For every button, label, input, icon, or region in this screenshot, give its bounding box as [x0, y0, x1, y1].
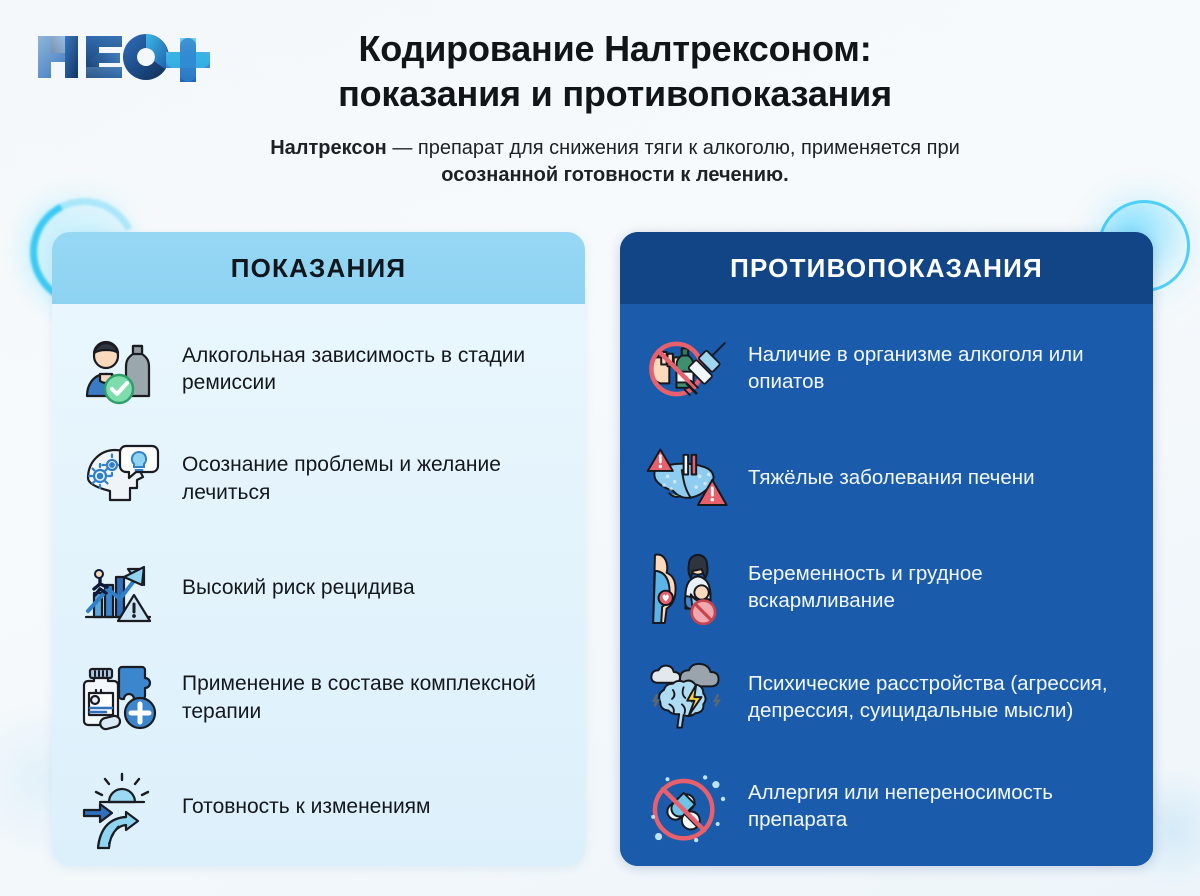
- subtitle-lead-bold: Налтрексон: [270, 137, 387, 159]
- brain-storm-cloud-icon: [646, 655, 732, 741]
- card-contraindications-title: ПРОТИВОПОКАЗАНИЯ: [730, 253, 1043, 284]
- card-contraindications: ПРОТИВОПОКАЗАНИЯ: [620, 232, 1153, 866]
- subtitle-middle: — препарат для снижения тяги к алкоголю,…: [387, 137, 960, 159]
- list-item-label: Применение в составе комплексной терапии: [182, 670, 559, 725]
- list-item[interactable]: Осознание проблемы и желание лечиться: [78, 436, 559, 522]
- list-item-label: Аллергия или непереносимость препарата: [748, 780, 1135, 833]
- head-gears-lightbulb-icon: [78, 436, 164, 522]
- sunrise-road-arrow-icon: [78, 764, 164, 850]
- list-item[interactable]: Тяжёлые заболевания печени: [646, 436, 1135, 522]
- subtitle-tail-bold: осознанной готовности к лечению.: [441, 164, 788, 186]
- list-item-label: Осознание проблемы и желание лечиться: [182, 451, 559, 506]
- list-item-label: Высокий риск рецидива: [182, 574, 415, 601]
- no-alcohol-hand-syringe-icon: [646, 326, 732, 412]
- list-item[interactable]: Алкогольная зависимость в стадии ремисси…: [78, 326, 559, 412]
- card-contraindications-body: Наличие в организме алкоголя или опиатов: [620, 304, 1153, 866]
- list-item-label: Психические расстройства (агрессия, депр…: [748, 671, 1135, 724]
- card-indications: ПОКАЗАНИЯ: [52, 232, 585, 866]
- page-title-line-2: показания и противопоказания: [215, 71, 1015, 116]
- list-item[interactable]: Беременность и грудное вскармливание: [646, 545, 1135, 631]
- card-contraindications-header: ПРОТИВОПОКАЗАНИЯ: [620, 232, 1153, 304]
- rising-chart-warning-icon: [78, 545, 164, 631]
- list-item-label: Тяжёлые заболевания печени: [748, 465, 1035, 492]
- list-item-label: Беременность и грудное вскармливание: [748, 561, 1135, 614]
- list-item[interactable]: Наличие в организме алкоголя или опиатов: [646, 326, 1135, 412]
- page-header: Кодирование Налтрексоном: показания и пр…: [0, 0, 1200, 212]
- no-pills-allergy-icon: [646, 764, 732, 850]
- neo-plus-logo-icon: [34, 30, 212, 90]
- list-item[interactable]: Аллергия или непереносимость препарата: [646, 764, 1135, 850]
- card-indications-title: ПОКАЗАНИЯ: [231, 253, 407, 284]
- list-item[interactable]: Высокий риск рецидива: [78, 545, 559, 631]
- liver-warning-icon: [646, 436, 732, 522]
- page-subtitle: Налтрексон — препарат для снижения тяги …: [215, 135, 1015, 189]
- list-item[interactable]: Психические расстройства (агрессия, депр…: [646, 655, 1135, 741]
- list-item-label: Наличие в организме алкоголя или опиатов: [748, 342, 1135, 395]
- cards-container: ПОКАЗАНИЯ: [0, 232, 1200, 872]
- card-indications-body: Алкогольная зависимость в стадии ремисси…: [52, 304, 585, 866]
- list-item[interactable]: Готовность к изменениям: [78, 764, 559, 850]
- page-title-block: Кодирование Налтрексоном: показания и пр…: [215, 26, 1015, 189]
- list-item[interactable]: Применение в составе комплексной терапии: [78, 655, 559, 741]
- person-bottle-check-icon: [78, 326, 164, 412]
- page-title-line-1: Кодирование Налтрексоном:: [215, 26, 1015, 71]
- pregnancy-breastfeeding-prohibited-icon: [646, 545, 732, 631]
- medicine-bottle-puzzle-cross-icon: [78, 655, 164, 741]
- card-indications-header: ПОКАЗАНИЯ: [52, 232, 585, 304]
- list-item-label: Готовность к изменениям: [182, 793, 430, 820]
- list-item-label: Алкогольная зависимость в стадии ремисси…: [182, 342, 559, 397]
